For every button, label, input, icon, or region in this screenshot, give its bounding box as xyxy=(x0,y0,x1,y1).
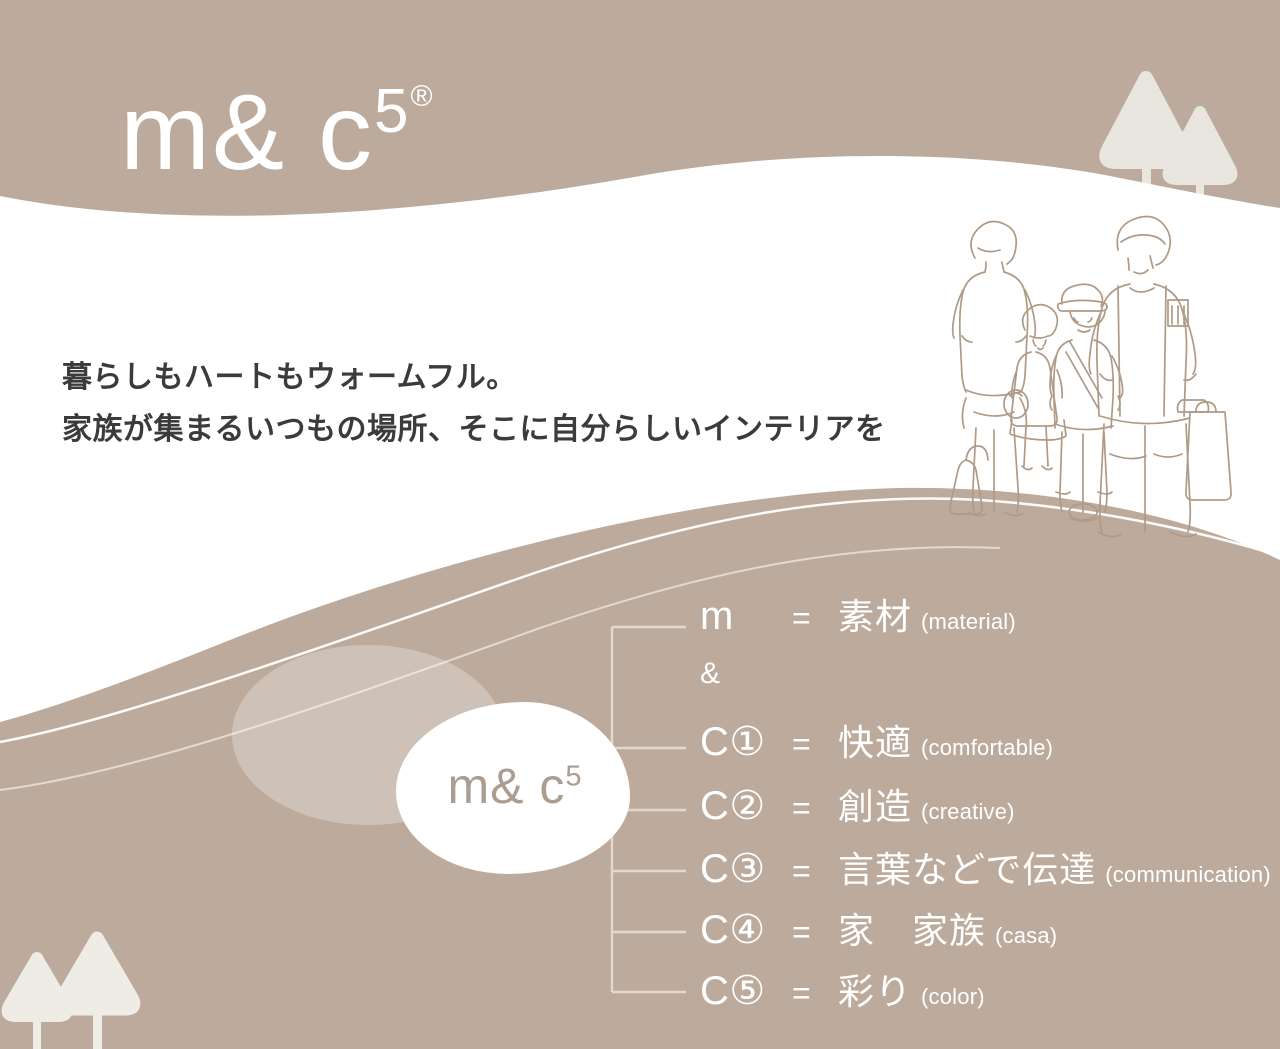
legend-english: (comfortable) xyxy=(921,737,1053,759)
brand-logo-header: m& c5® xyxy=(120,78,433,186)
brand-blob-superscript: 5 xyxy=(565,760,582,792)
registered-trademark-icon: ® xyxy=(411,80,435,113)
legend-row-c2: C② = 創造 (creative) xyxy=(700,786,1015,826)
legend-japanese: 家 家族 xyxy=(838,913,986,949)
brand-blob-main: m& c xyxy=(447,758,565,814)
legend-japanese: 快適 xyxy=(838,725,912,761)
legend-equals: = xyxy=(792,602,838,634)
slide-canvas: m& c5® 暮らしもハートもウォームフル。 家族が集まるいつもの場所、そこに自… xyxy=(0,0,1280,1049)
legend-key: C③ xyxy=(700,849,792,889)
legend-key: C② xyxy=(700,786,792,826)
legend-english: (color) xyxy=(921,986,985,1008)
tagline-line-2: 家族が集まるいつもの場所、そこに自分らしいインテリアを xyxy=(62,404,886,456)
brand-logo-superscript: 5 xyxy=(374,77,408,146)
legend-row-c1: C① = 快適 (comfortable) xyxy=(700,722,1053,762)
legend-english: (casa) xyxy=(995,925,1057,947)
legend-key: C④ xyxy=(700,910,792,950)
legend-key: & xyxy=(700,659,792,689)
tagline-block: 暮らしもハートもウォームフル。 家族が集まるいつもの場所、そこに自分らしいインテ… xyxy=(62,352,886,455)
legend-equals: = xyxy=(792,728,838,760)
legend-english: (material) xyxy=(921,611,1016,633)
legend-english: (creative) xyxy=(921,801,1015,823)
brand-logo-text: m& c xyxy=(120,71,374,192)
legend-key: C① xyxy=(700,722,792,762)
brand-blob-text: m& c5 xyxy=(447,761,582,811)
legend-key: m xyxy=(700,596,792,636)
legend-key: C⑤ xyxy=(700,971,792,1011)
legend-equals: = xyxy=(792,792,838,824)
legend-japanese: 創造 xyxy=(838,789,912,825)
legend-row-c5: C⑤ = 彩り (color) xyxy=(700,971,985,1011)
legend-equals: = xyxy=(792,977,838,1009)
tagline-line-1: 暮らしもハートもウォームフル。 xyxy=(62,352,886,404)
legend-row-c3: C③ = 言葉などで伝達 (communication) xyxy=(700,849,1271,889)
legend-row-m: m = 素材 (material) xyxy=(700,596,1016,636)
legend-row-c4: C④ = 家 家族 (casa) xyxy=(700,910,1057,950)
legend-equals: = xyxy=(792,855,838,887)
legend-japanese: 彩り xyxy=(838,974,912,1010)
legend-english: (communication) xyxy=(1105,864,1271,886)
legend-equals: = xyxy=(792,916,838,948)
legend-japanese: 言葉などで伝達 xyxy=(838,852,1096,888)
legend-japanese: 素材 xyxy=(838,599,912,635)
legend-row-ampersand: & xyxy=(700,659,847,689)
